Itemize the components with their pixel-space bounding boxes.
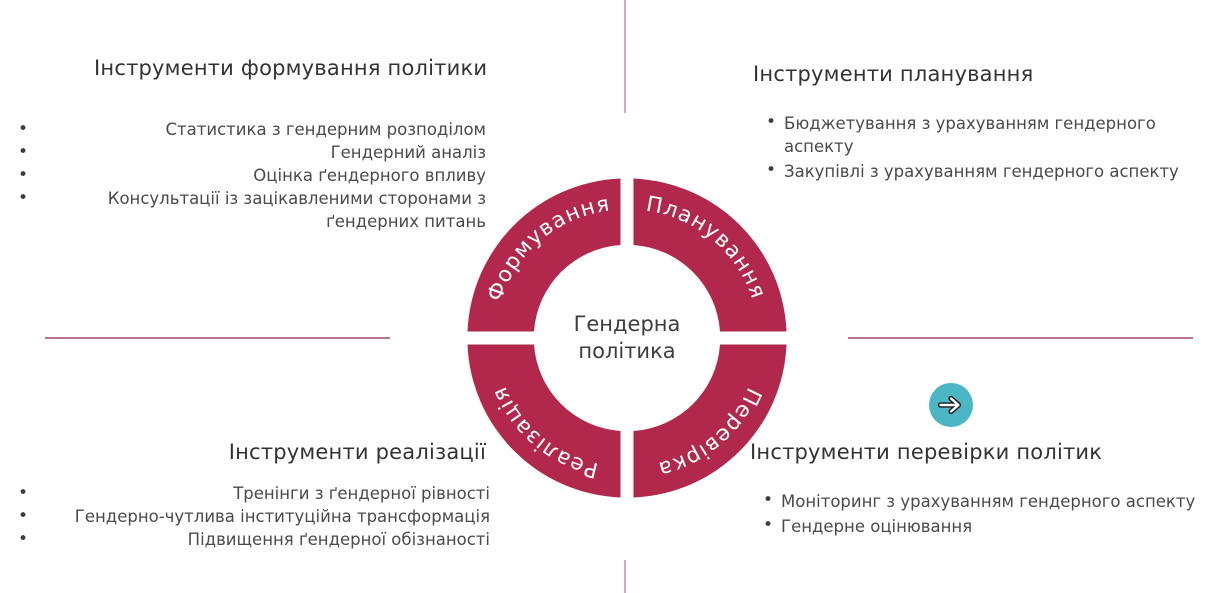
quadrant-policy-making: Інструменти формування політики • Статис… <box>18 56 490 233</box>
quadrant-monitoring: Інструменти перевірки політик Моніторинг… <box>750 440 1202 540</box>
divider-right-horizontal <box>848 337 1193 339</box>
quadrant-monitoring-title: Інструменти перевірки політик <box>750 440 1202 464</box>
list-item: • Тренінги з ґендерної рівності <box>18 482 490 505</box>
quadrant-policy-making-list: • Статистика з гендерним розподілом • Ге… <box>18 118 490 233</box>
list-item: • Оцінка ґендерного впливу <box>18 164 486 187</box>
donut-segment-formation: Формування <box>468 179 621 332</box>
bullet-icon: • <box>18 141 28 164</box>
donut-segment-implementation: Реалізація <box>468 345 621 498</box>
list-item: Гендерне оцінювання <box>761 515 1202 538</box>
gender-policy-cycle-diagram: Формування Планування Реалізація Перевір… <box>464 175 790 501</box>
quadrant-implementation-title: Інструменти реалізації <box>18 440 490 464</box>
list-item: • Гендерний аналіз <box>18 141 486 164</box>
list-item: Закупівлі з урахуванням гендерного аспек… <box>764 160 1193 183</box>
divider-bottom-vertical <box>624 560 626 593</box>
donut-segment-planning: Планування <box>634 179 787 332</box>
bullet-icon: • <box>18 482 28 505</box>
bullet-icon: • <box>18 118 28 141</box>
list-item: Моніторинг з урахуванням гендерного аспе… <box>761 490 1202 513</box>
bullet-icon: • <box>18 505 28 528</box>
list-item: Бюджетування з урахуванням гендерного ас… <box>764 112 1193 158</box>
divider-left-horizontal <box>45 337 390 339</box>
list-item: • Консультації із зацікавленими сторонам… <box>18 187 486 233</box>
next-arrow-button[interactable] <box>929 383 973 427</box>
quadrant-policy-making-title: Інструменти формування політики <box>94 56 490 80</box>
divider-top-vertical <box>624 0 626 113</box>
quadrant-planning-title: Інструменти планування <box>753 62 1193 86</box>
arrow-right-icon <box>938 394 964 416</box>
list-item: • Гендерно-чутлива інституційна трансфор… <box>18 505 490 528</box>
quadrant-implementation-list: • Тренінги з ґендерної рівності • Гендер… <box>18 482 490 551</box>
quadrant-monitoring-list: Моніторинг з урахуванням гендерного аспе… <box>750 490 1202 538</box>
list-item: • Статистика з гендерним розподілом <box>18 118 486 141</box>
quadrant-implementation: Інструменти реалізації • Тренінги з ґенд… <box>18 440 490 551</box>
quadrant-planning-list: Бюджетування з урахуванням гендерного ас… <box>753 112 1193 183</box>
bullet-icon: • <box>18 528 28 551</box>
quadrant-planning: Інструменти планування Бюджетування з ур… <box>753 62 1193 185</box>
list-item: • Підвищення ґендерної обізнаності <box>18 528 490 551</box>
bullet-icon: • <box>18 187 28 210</box>
bullet-icon: • <box>18 164 28 187</box>
